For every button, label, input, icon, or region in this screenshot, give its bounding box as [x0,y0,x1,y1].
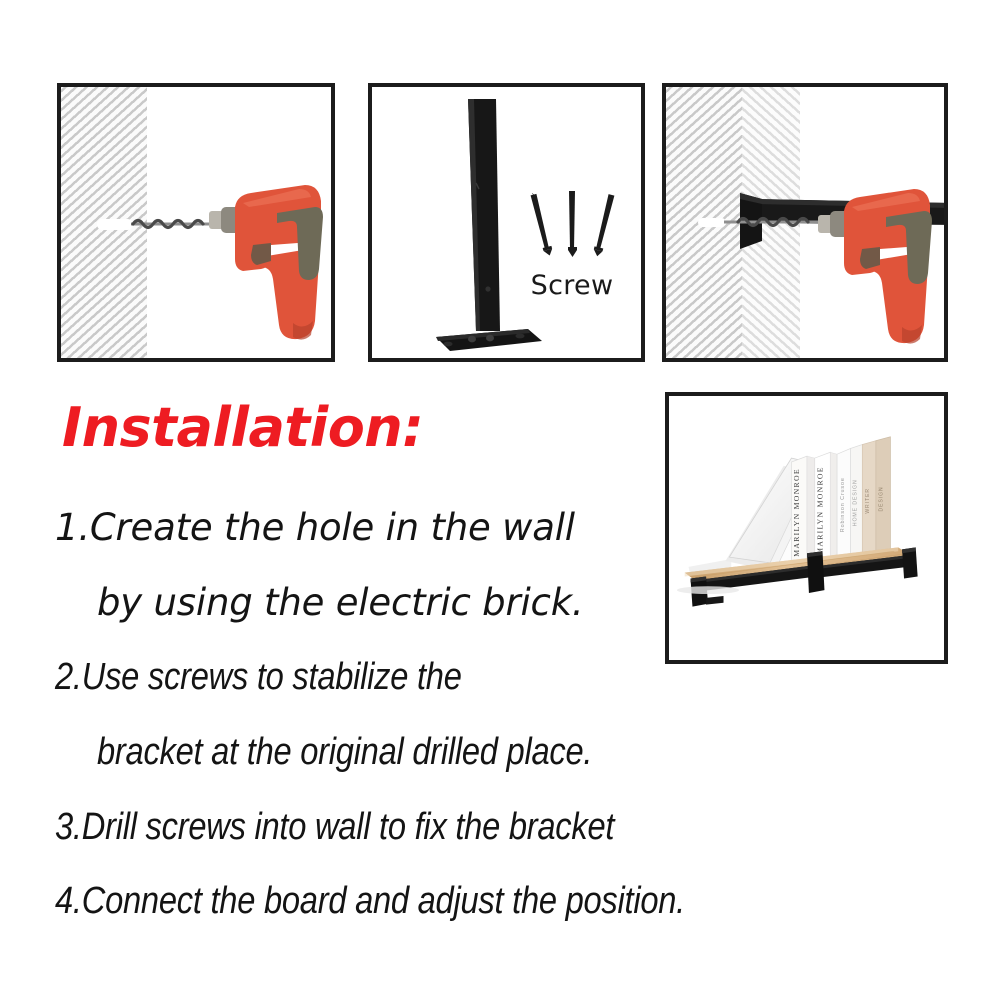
instruction-step-4: 4.Connect the board and adjust the posit… [55,864,865,938]
panel-step2-bracket-screws: Screw [368,83,645,362]
power-drill-icon [209,183,335,343]
drill-bit-icon [722,211,830,233]
step-text-line1: Drill screws into wall to fix the bracke… [82,806,614,848]
instruction-step-2: 2.Use screws to stabilize the bracket at… [55,640,865,790]
book-spine: DESIGN [876,437,891,555]
page-title: Installation: [62,396,423,459]
panel-step3-mount-bracket [662,83,948,362]
svg-text:WRITER: WRITER [865,488,871,514]
step-text-line2: bracket at the original drilled place. [97,715,592,790]
screw-label: Screw [512,270,632,301]
drill-bit-icon [129,213,221,235]
instruction-step-1: 1.Create the hole in the wall by using t… [55,490,865,640]
panel-step1-drill-hole [57,83,335,362]
step-text-line1: Use screws to stabilize the [82,656,462,698]
instruction-list: 1.Create the hole in the wall by using t… [55,490,865,938]
instruction-step-3: 3.Drill screws into wall to fix the brac… [55,790,865,864]
svg-text:DESIGN: DESIGN [879,486,885,511]
step-number: 2. [55,656,82,698]
drill-hole [97,219,133,230]
screw-group: Screw [512,187,632,301]
power-drill-icon [818,183,948,351]
screw-icon [514,187,630,263]
step-number: 4. [55,880,82,922]
step-text-line2: by using the electric brick. [55,565,865,640]
step-text-line1: Connect the board and adjust the positio… [82,880,685,922]
step-number: 1. [55,506,90,549]
step-text-line1: Create the hole in the wall [90,506,575,549]
step-number: 3. [55,806,82,848]
